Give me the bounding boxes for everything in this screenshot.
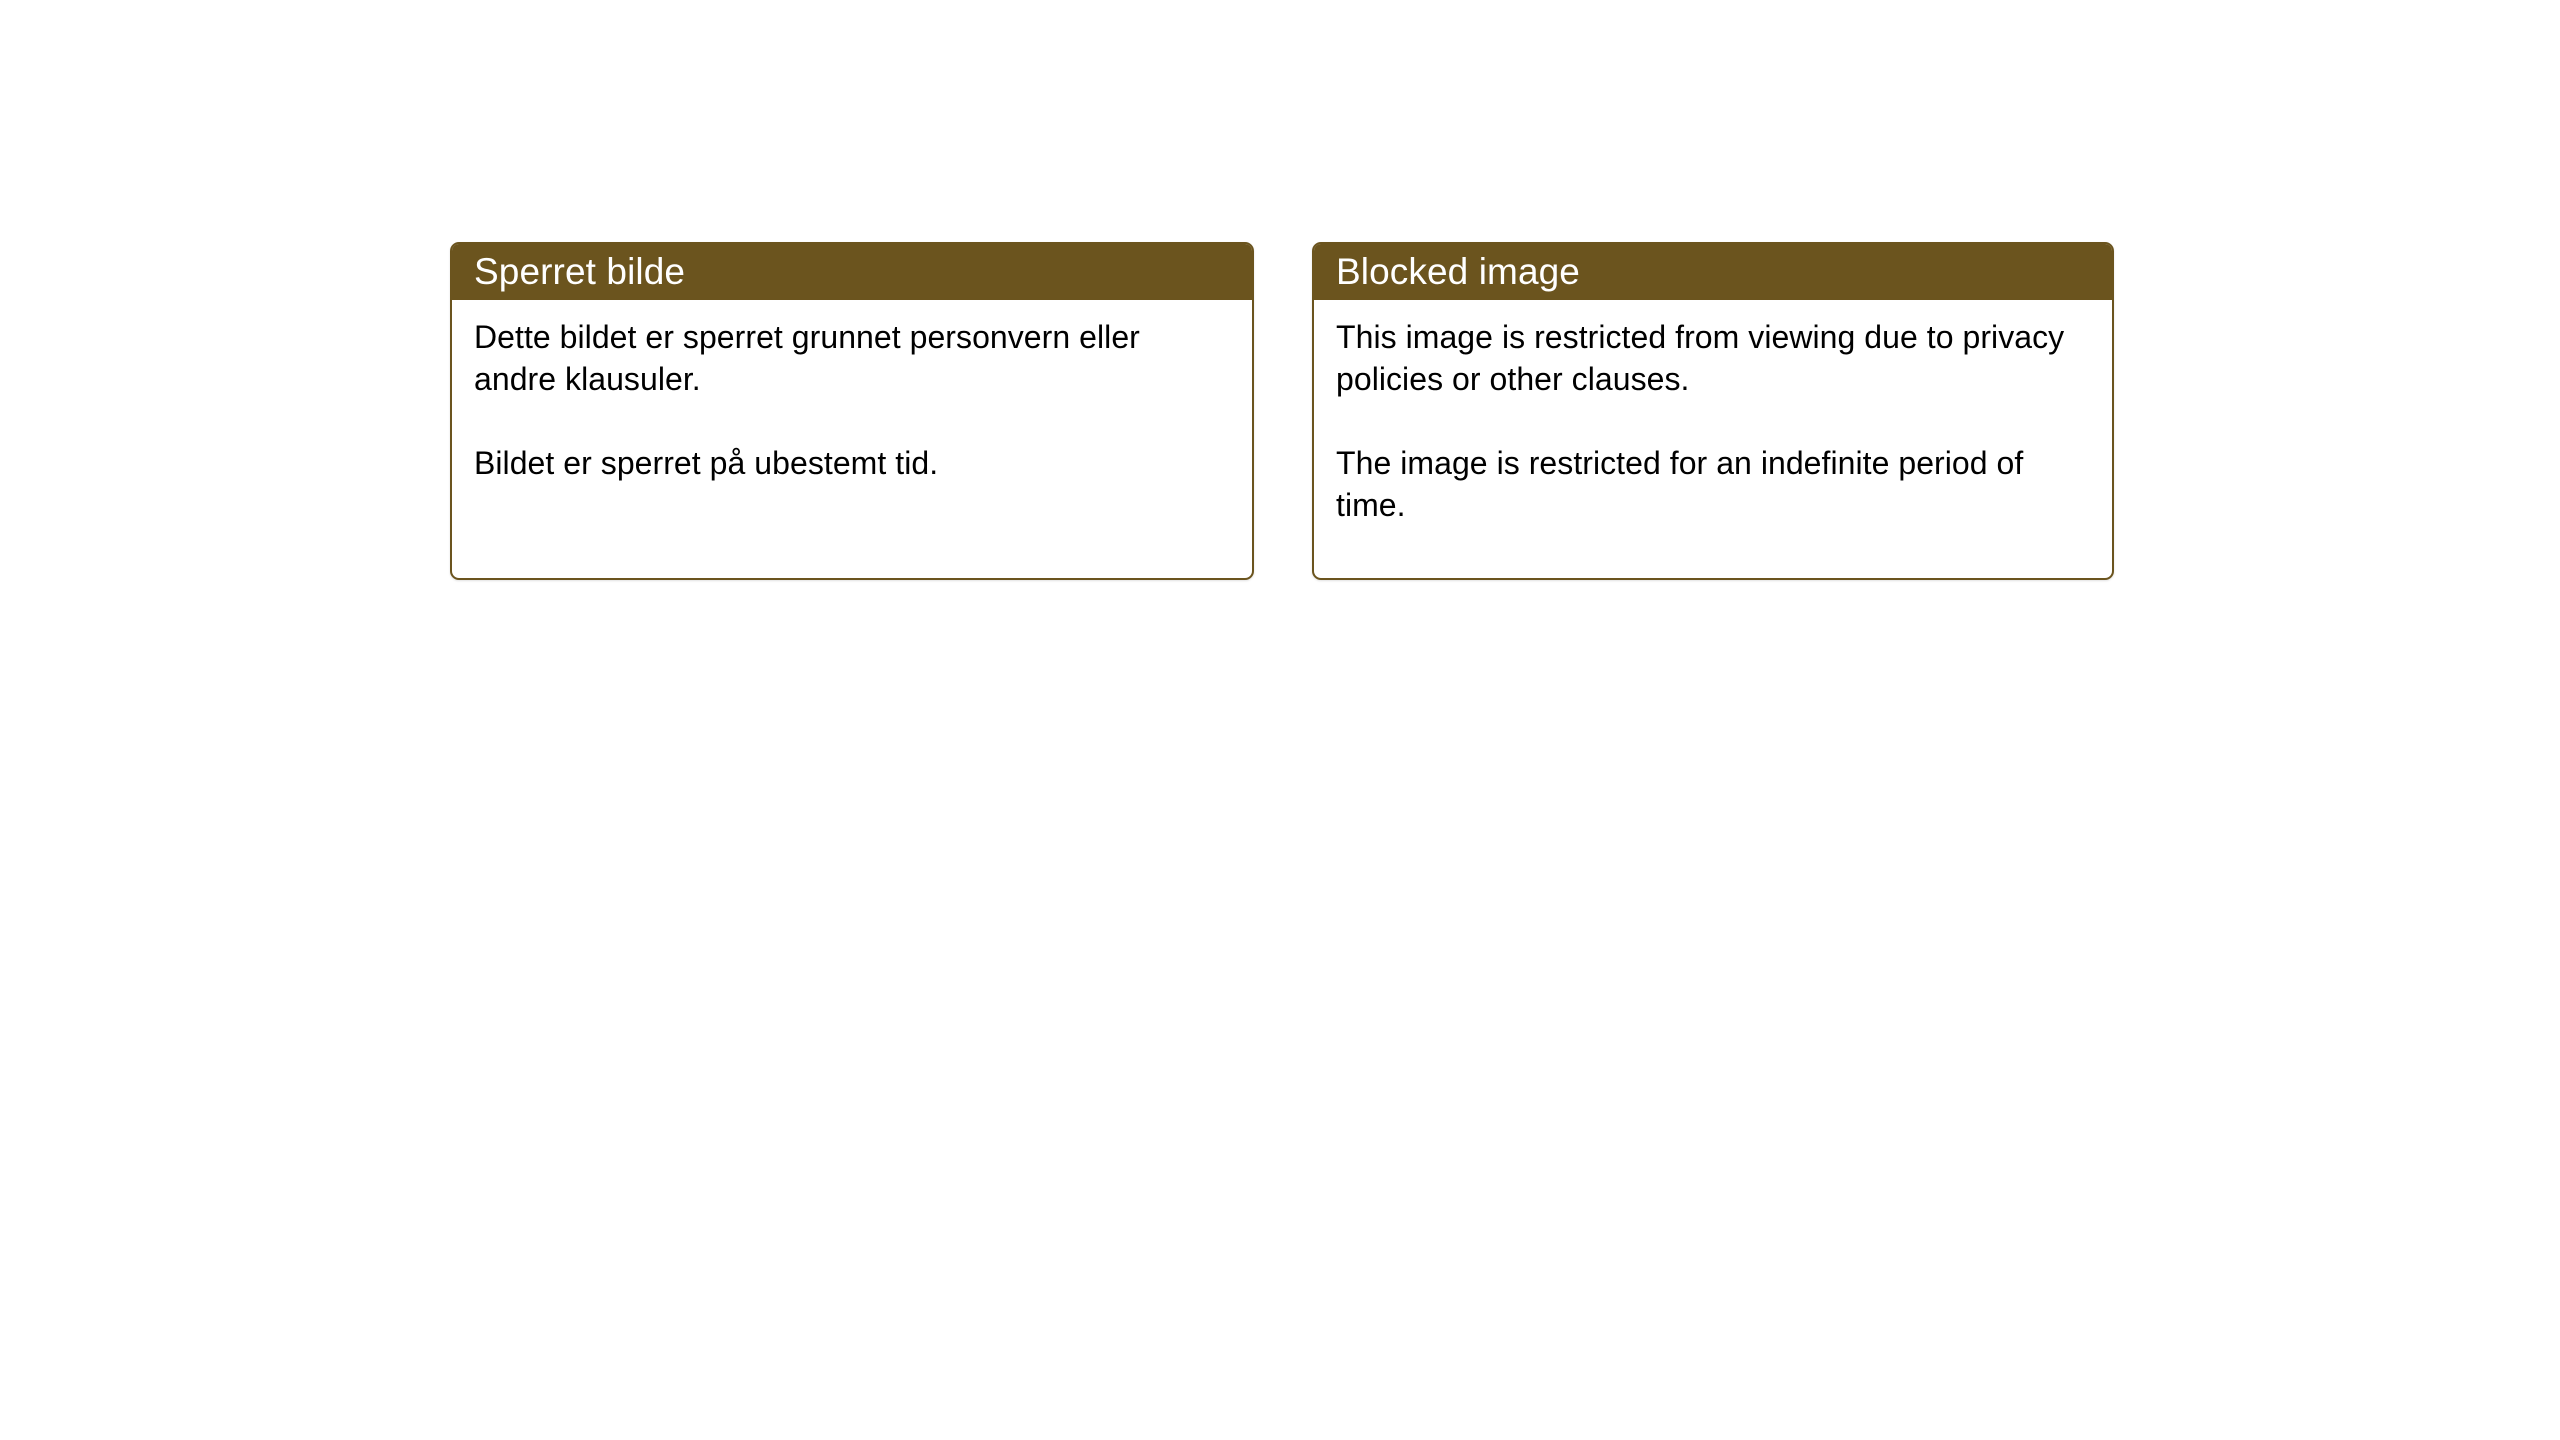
card-header-norwegian: Sperret bilde [452,244,1252,300]
card-body-norwegian: Dette bildet er sperret grunnet personve… [452,300,1252,484]
card-title-english: Blocked image [1336,252,1580,292]
paragraph-spacer [474,400,1230,442]
card-paragraph-secondary-english: The image is restricted for an indefinit… [1336,442,2090,526]
card-paragraph-secondary-norwegian: Bildet er sperret på ubestemt tid. [474,442,1230,484]
card-body-english: This image is restricted from viewing du… [1314,300,2112,526]
page-canvas: Sperret bilde Dette bildet er sperret gr… [0,0,2560,1440]
card-paragraph-primary-norwegian: Dette bildet er sperret grunnet personve… [474,316,1230,400]
card-title-norwegian: Sperret bilde [474,252,685,292]
paragraph-spacer [1336,400,2090,442]
blocked-image-notice-card-english: Blocked image This image is restricted f… [1312,242,2114,580]
blocked-image-notice-card-norwegian: Sperret bilde Dette bildet er sperret gr… [450,242,1254,580]
card-paragraph-primary-english: This image is restricted from viewing du… [1336,316,2090,400]
card-header-english: Blocked image [1314,244,2112,300]
